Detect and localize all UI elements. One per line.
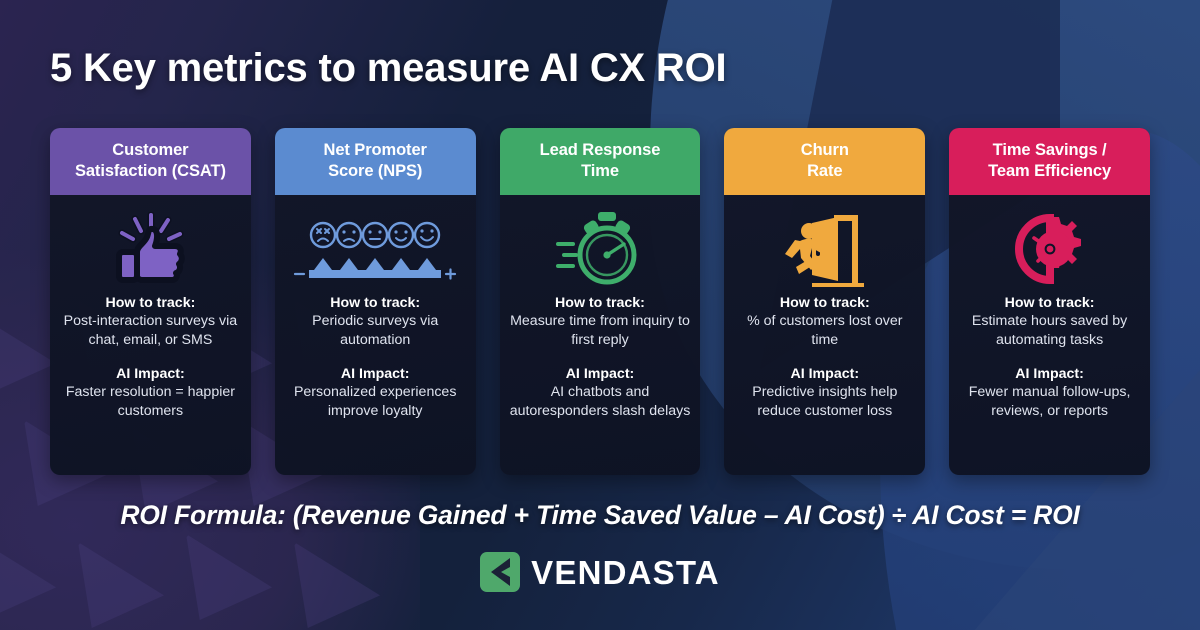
clock-gear-icon: [1008, 203, 1092, 295]
card-title-line-2: Team Efficiency: [957, 161, 1142, 182]
how-to-track-label: How to track:: [509, 295, 692, 311]
how-to-track-text: Periodic surveys via automation: [284, 312, 467, 350]
vendasta-logo[interactable]: VENDASTA: [0, 552, 1200, 592]
how-to-track-block: How to track: Measure time from inquiry …: [509, 295, 692, 350]
how-to-track-text: Estimate hours saved by automating tasks: [958, 312, 1141, 350]
card-title-line-1: Customer: [58, 140, 243, 161]
card-title-line-2: Satisfaction (CSAT): [58, 161, 243, 182]
how-to-track-label: How to track:: [958, 295, 1141, 311]
ai-impact-block: AI Impact: Personalized experiences impr…: [284, 366, 467, 421]
ai-impact-label: AI Impact:: [284, 366, 467, 382]
card-body-lead-response-time: How to track: Measure time from inquiry …: [500, 195, 701, 475]
vendasta-arrow-mark-icon: [480, 552, 520, 592]
thumbs-up-icon: [111, 203, 189, 295]
ai-impact-text: Faster resolution = happier customers: [59, 383, 242, 421]
card-header-nps: Net Promoter Score (NPS): [275, 128, 476, 195]
ai-impact-label: AI Impact:: [958, 366, 1141, 382]
card-body-csat: How to track: Post-interaction surveys v…: [50, 195, 251, 475]
ai-impact-text: Fewer manual follow-ups, reviews, or rep…: [958, 383, 1141, 421]
card-header-lead-response-time: Lead Response Time: [500, 128, 701, 195]
stopwatch-icon: [554, 203, 646, 295]
how-to-track-text: Measure time from inquiry to first reply: [509, 312, 692, 350]
ai-impact-block: AI Impact: Faster resolution = happier c…: [59, 366, 242, 421]
card-body-nps: How to track: Periodic surveys via autom…: [275, 195, 476, 475]
ai-impact-label: AI Impact:: [59, 366, 242, 382]
person-exiting-door-icon: [782, 203, 868, 295]
how-to-track-block: How to track: Periodic surveys via autom…: [284, 295, 467, 350]
ai-impact-block: AI Impact: Fewer manual follow-ups, revi…: [958, 366, 1141, 421]
infographic-canvas: 5 Key metrics to measure AI CX ROI Custo…: [0, 0, 1200, 630]
ai-impact-text: Predictive insights help reduce customer…: [733, 383, 916, 421]
card-title-line-1: Net Promoter: [283, 140, 468, 161]
roi-formula: ROI Formula: (Revenue Gained + Time Save…: [0, 500, 1200, 531]
metric-card-list: Customer Satisfaction (CSAT): [50, 128, 1150, 475]
how-to-track-block: How to track: Estimate hours saved by au…: [958, 295, 1141, 350]
ai-impact-text: AI chatbots and autoresponders slash del…: [509, 383, 692, 421]
metric-card-time-savings[interactable]: Time Savings / Team Efficiency: [949, 128, 1150, 475]
ai-impact-label: AI Impact:: [733, 366, 916, 382]
how-to-track-label: How to track:: [733, 295, 916, 311]
vendasta-wordmark: VENDASTA: [531, 556, 720, 589]
metric-card-lead-response-time[interactable]: Lead Response Time: [500, 128, 701, 475]
ai-impact-block: AI Impact: AI chatbots and autoresponder…: [509, 366, 692, 421]
ai-impact-text: Personalized experiences improve loyalty: [284, 383, 467, 421]
page-title: 5 Key metrics to measure AI CX ROI: [50, 46, 726, 91]
card-header-csat: Customer Satisfaction (CSAT): [50, 128, 251, 195]
how-to-track-block: How to track: % of customers lost over t…: [733, 295, 916, 350]
metric-card-nps[interactable]: Net Promoter Score (NPS): [275, 128, 476, 475]
metric-card-churn-rate[interactable]: Churn Rate: [724, 128, 925, 475]
nps-faces-scale-icon: [293, 203, 457, 295]
how-to-track-label: How to track:: [284, 295, 467, 311]
card-header-churn-rate: Churn Rate: [724, 128, 925, 195]
ai-impact-block: AI Impact: Predictive insights help redu…: [733, 366, 916, 421]
metric-card-csat[interactable]: Customer Satisfaction (CSAT): [50, 128, 251, 475]
ai-impact-label: AI Impact:: [509, 366, 692, 382]
card-body-time-savings: How to track: Estimate hours saved by au…: [949, 195, 1150, 475]
card-body-churn-rate: How to track: % of customers lost over t…: [724, 195, 925, 475]
card-title-line-1: Lead Response: [508, 140, 693, 161]
card-header-time-savings: Time Savings / Team Efficiency: [949, 128, 1150, 195]
card-title-line-1: Time Savings /: [957, 140, 1142, 161]
card-title-line-1: Churn: [732, 140, 917, 161]
how-to-track-text: Post-interaction surveys via chat, email…: [59, 312, 242, 350]
how-to-track-block: How to track: Post-interaction surveys v…: [59, 295, 242, 350]
card-title-line-2: Score (NPS): [283, 161, 468, 182]
card-title-line-2: Rate: [732, 161, 917, 182]
card-title-line-2: Time: [508, 161, 693, 182]
how-to-track-label: How to track:: [59, 295, 242, 311]
how-to-track-text: % of customers lost over time: [733, 312, 916, 350]
